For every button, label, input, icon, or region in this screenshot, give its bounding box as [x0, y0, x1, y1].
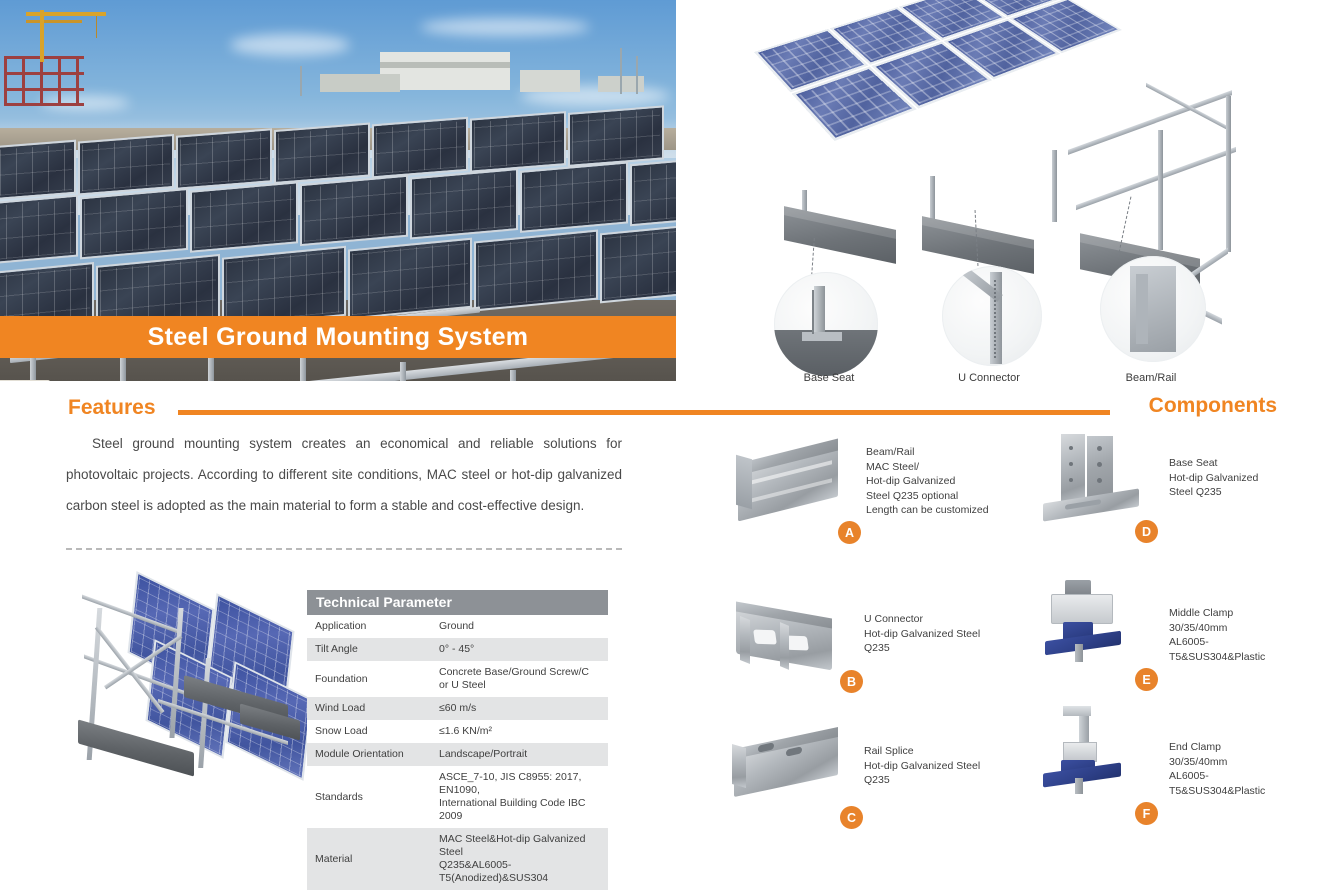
table-row: Wind Load ≤60 m/s: [307, 697, 608, 720]
table-row: Standards ASCE_7-10, JIS C8955: 2017, EN…: [307, 766, 608, 828]
pv-module-array-3d: [754, 0, 1127, 144]
tower-crane-mast: [40, 10, 44, 62]
callout-label-base-seat: Base Seat: [784, 372, 874, 384]
table-row: Tilt Angle 0° - 45°: [307, 638, 608, 661]
hero-photo: Steel Ground Mounting System: [0, 0, 676, 381]
component-badge-c: C: [840, 806, 863, 829]
table-cell-value: MAC Steel&Hot-dip Galvanized Steel Q235&…: [431, 828, 608, 890]
component-image-beam-rail: [730, 437, 850, 523]
table-row: Module Orientation Landscape/Portrait: [307, 743, 608, 766]
features-paragraph-text: Steel ground mounting system creates an …: [66, 436, 622, 513]
table-cell-value: Concrete Base/Ground Screw/C or U Steel: [431, 661, 608, 697]
component-badge-b: B: [840, 670, 863, 693]
components-heading: Components: [1149, 394, 1277, 418]
cloud: [230, 34, 350, 56]
cloud: [420, 18, 590, 36]
table-cell-key: Snow Load: [307, 720, 431, 743]
component-image-base-seat: [1035, 430, 1155, 516]
component-spec-end-clamp: End Clamp 30/35/40mm AL6005-T5&SUS304&Pl…: [1169, 740, 1295, 798]
table-row: Snow Load ≤1.6 KN/m²: [307, 720, 608, 743]
component-image-middle-clamp: [1035, 578, 1155, 664]
component-image-rail-splice: [728, 722, 848, 808]
background-building: [520, 70, 580, 92]
component-item-beam-rail: Beam/Rail MAC Steel/ Hot-dip Galvanized …: [730, 437, 990, 547]
hero-3d-render: Base Seat U Connector Beam/Rail: [676, 0, 1339, 390]
component-image-end-clamp: [1035, 706, 1155, 792]
component-item-u-connector: U Connector Hot-dip Galvanized Steel Q23…: [728, 598, 988, 708]
features-heading: Features: [68, 396, 156, 420]
table-cell-value: ≤1.6 KN/m²: [431, 720, 608, 743]
callout-label-beam-rail: Beam/Rail: [1096, 372, 1206, 384]
background-building: [320, 74, 400, 92]
hero-title-band: Steel Ground Mounting System: [0, 316, 676, 358]
table-cell-key: Module Orientation: [307, 743, 431, 766]
background-building: [380, 62, 510, 68]
table-cell-key: Standards: [307, 766, 431, 828]
dashed-separator: [66, 548, 622, 550]
section-divider-rule: [178, 410, 1110, 415]
table-title: Technical Parameter: [307, 590, 608, 615]
tower-crane-jib: [26, 20, 82, 23]
utility-pylon: [300, 66, 302, 96]
detail-callout-u-connector: [942, 266, 1042, 366]
utility-pylon: [620, 48, 622, 94]
concrete-beam: [784, 206, 896, 264]
features-paragraph: Steel ground mounting system creates an …: [66, 428, 622, 521]
table-cell-value: Landscape/Portrait: [431, 743, 608, 766]
component-badge-a: A: [838, 521, 861, 544]
utility-pylon: [636, 56, 638, 94]
table-cell-key: Foundation: [307, 661, 431, 697]
table-cell-key: Application: [307, 615, 431, 638]
construction-frame: [4, 56, 84, 106]
tower-crane-jib: [26, 12, 106, 16]
mounting-system-render: [62, 578, 302, 818]
component-spec-u-connector: U Connector Hot-dip Galvanized Steel Q23…: [864, 612, 988, 656]
component-image-u-connector: [728, 598, 848, 684]
detail-callout-base-seat: [774, 272, 878, 376]
tower-crane-cable: [96, 16, 97, 38]
callout-label-u-connector: U Connector: [934, 372, 1044, 384]
datasheet-page: Steel Ground Mounting System: [0, 0, 1339, 837]
component-spec-rail-splice: Rail Splice Hot-dip Galvanized Steel Q23…: [864, 744, 988, 788]
table-cell-value: 0° - 45°: [431, 638, 608, 661]
table-cell-value: Ground: [431, 615, 608, 638]
component-badge-d: D: [1135, 520, 1158, 543]
table-header-row: Technical Parameter: [307, 590, 608, 615]
table-cell-value: ≤60 m/s: [431, 697, 608, 720]
component-item-middle-clamp: Middle Clamp 30/35/40mm AL6005-T5&SUS304…: [1035, 578, 1295, 698]
technical-parameter-table: Technical Parameter Application Ground T…: [307, 590, 608, 890]
component-badge-e: E: [1135, 668, 1158, 691]
table-row: Application Ground: [307, 615, 608, 638]
table-cell-key: Wind Load: [307, 697, 431, 720]
page-title: Steel Ground Mounting System: [148, 323, 529, 352]
table-row: Foundation Concrete Base/Ground Screw/C …: [307, 661, 608, 697]
component-spec-middle-clamp: Middle Clamp 30/35/40mm AL6005-T5&SUS304…: [1169, 606, 1295, 664]
detail-callout-beam-rail: [1100, 256, 1206, 362]
component-item-end-clamp: End Clamp 30/35/40mm AL6005-T5&SUS304&Pl…: [1035, 706, 1295, 826]
table-row: Material MAC Steel&Hot-dip Galvanized St…: [307, 828, 608, 890]
component-item-rail-splice: Rail Splice Hot-dip Galvanized Steel Q23…: [728, 722, 988, 832]
component-spec-base-seat: Base Seat Hot-dip Galvanized Steel Q235: [1169, 456, 1258, 500]
table-cell-key: Tilt Angle: [307, 638, 431, 661]
table-cell-key: Material: [307, 828, 431, 890]
table-cell-value: ASCE_7-10, JIS C8955: 2017, EN1090, Inte…: [431, 766, 608, 828]
component-spec-beam-rail: Beam/Rail MAC Steel/ Hot-dip Galvanized …: [866, 445, 989, 518]
component-badge-f: F: [1135, 802, 1158, 825]
component-item-base-seat: Base Seat Hot-dip Galvanized Steel Q235 …: [1035, 430, 1295, 540]
